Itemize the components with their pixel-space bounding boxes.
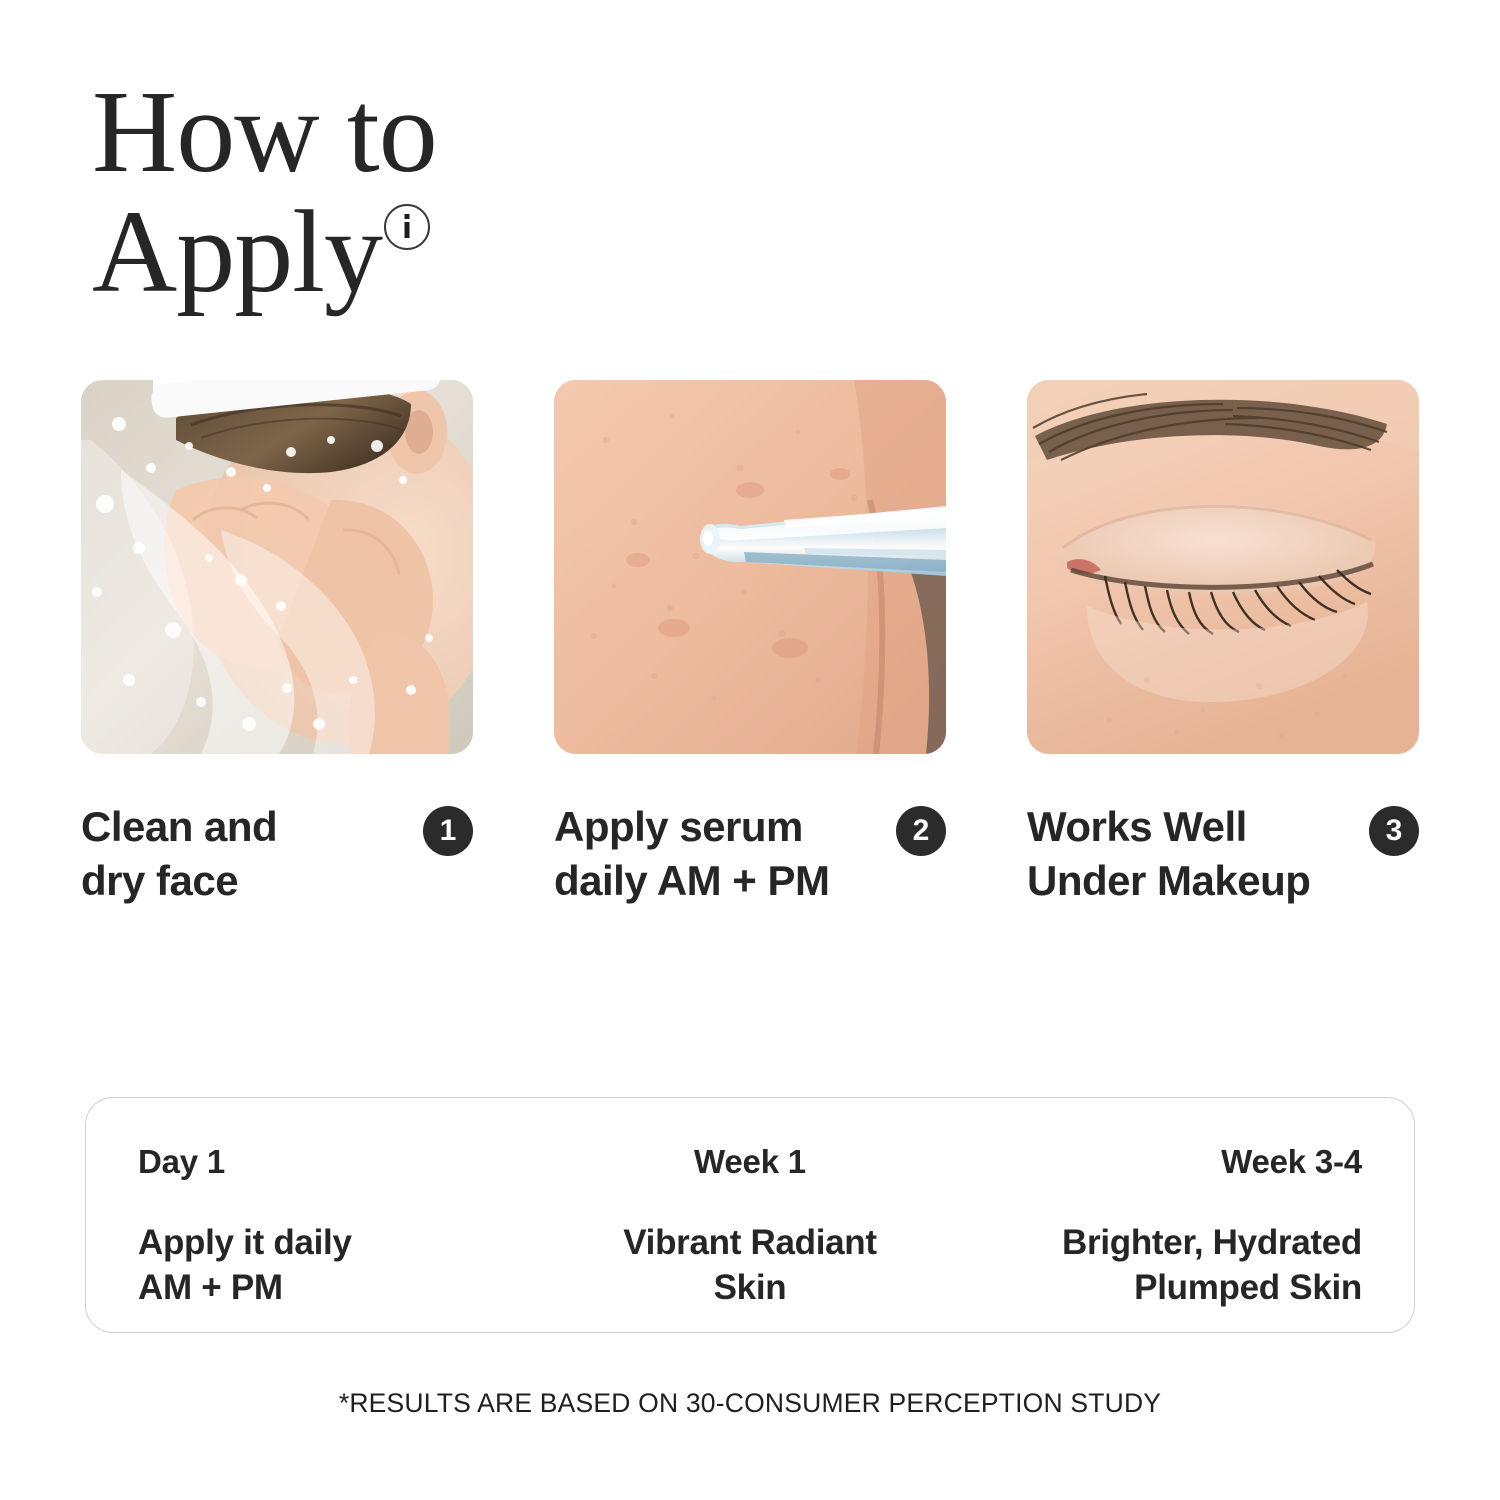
step-badge-1: 1 xyxy=(423,806,473,856)
timeline-heading-2: Week 1 xyxy=(546,1142,954,1182)
step-badge-2: 2 xyxy=(896,806,946,856)
info-icon-dot xyxy=(405,214,410,219)
page-title: How to Apply xyxy=(92,72,792,313)
step-caption-2: Apply serum daily AM + PM 2 xyxy=(554,800,946,908)
timeline-heading-3: Week 3-4 xyxy=(954,1142,1362,1182)
info-icon-stem xyxy=(405,222,410,238)
step-label-1: Clean and dry face xyxy=(81,800,409,908)
step-label-3: Works Well Under Makeup xyxy=(1027,800,1355,908)
study-footnote: *RESULTS ARE BASED ON 30-CONSUMER PERCEP… xyxy=(0,1388,1500,1419)
timeline-column-day-1: Day 1 Apply it daily AM + PM xyxy=(138,1142,546,1292)
timeline-column-week-1: Week 1 Vibrant Radiant Skin xyxy=(546,1142,954,1292)
step-image-works-under-makeup xyxy=(1027,380,1419,754)
step-card-2: Apply serum daily AM + PM 2 xyxy=(554,380,946,908)
step-badge-3: 3 xyxy=(1369,806,1419,856)
timeline-column-week-3-4: Week 3-4 Brighter, Hydrated Plumped Skin xyxy=(954,1142,1362,1292)
timeline-heading-1: Day 1 xyxy=(138,1142,546,1182)
timeline-body-2: Vibrant Radiant Skin xyxy=(546,1220,954,1311)
timeline-body-1: Apply it daily AM + PM xyxy=(138,1220,546,1311)
timeline-body-3: Brighter, Hydrated Plumped Skin xyxy=(954,1220,1362,1311)
title-line-1: How to xyxy=(92,72,792,192)
step-label-2: Apply serum daily AM + PM xyxy=(554,800,882,908)
how-to-apply-infographic: How to Apply xyxy=(0,0,1500,1500)
info-icon[interactable] xyxy=(384,204,430,250)
steps-row: Clean and dry face 1 xyxy=(81,380,1419,908)
step-image-clean-and-dry-face xyxy=(81,380,473,754)
step-image-apply-serum xyxy=(554,380,946,754)
step-caption-1: Clean and dry face 1 xyxy=(81,800,473,908)
step-card-3: Works Well Under Makeup 3 xyxy=(1027,380,1419,908)
title-line-2: Apply xyxy=(92,186,382,317)
results-timeline-card: Day 1 Apply it daily AM + PM Week 1 Vibr… xyxy=(85,1097,1415,1333)
step-caption-3: Works Well Under Makeup 3 xyxy=(1027,800,1419,908)
step-card-1: Clean and dry face 1 xyxy=(81,380,473,908)
